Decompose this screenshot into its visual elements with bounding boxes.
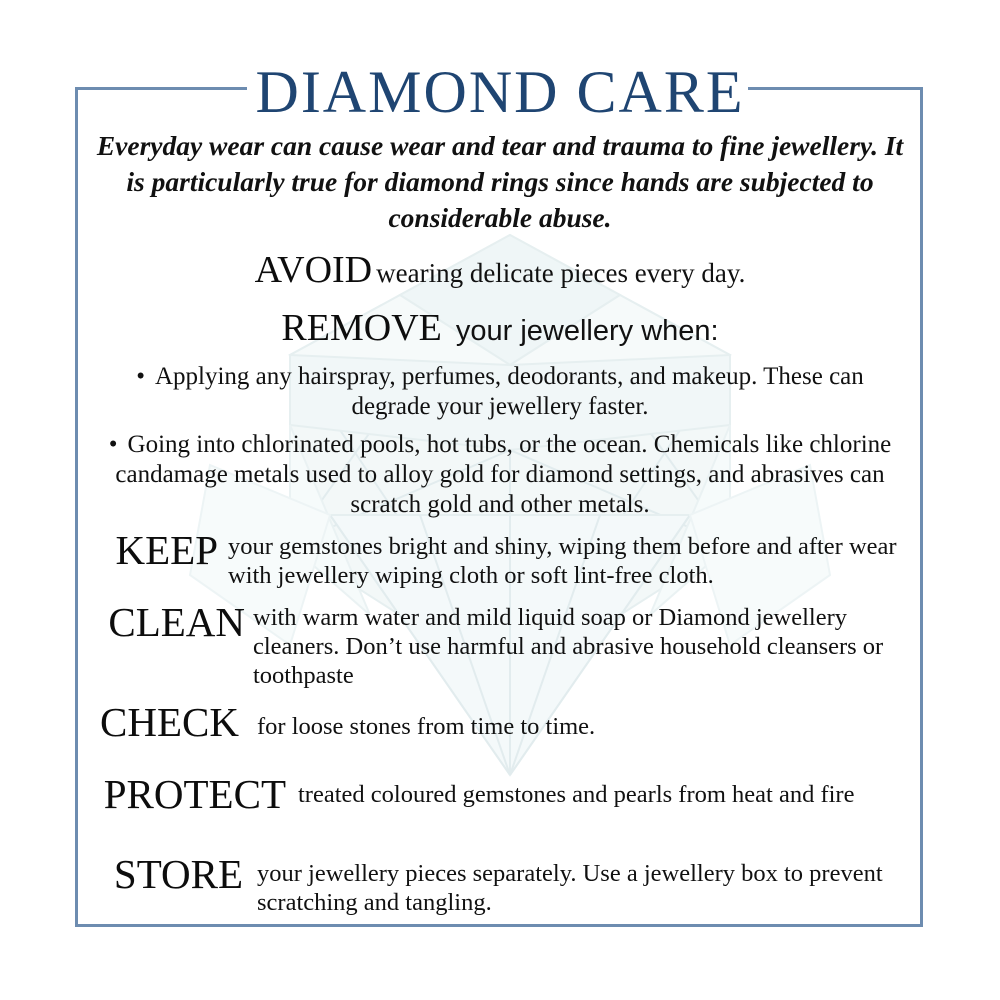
section-text-clean: with warm water and mild liquid soap or …: [253, 603, 930, 690]
list-item: •Applying any hairspray, perfumes, deodo…: [100, 362, 900, 422]
diamond-care-infographic: DIAMOND CARE Everyday wear can cause wea…: [0, 0, 1000, 1000]
remove-bullet-list: •Applying any hairspray, perfumes, deodo…: [100, 362, 900, 528]
section-keep: KEEP your gemstones bright and shiny, wi…: [88, 528, 918, 590]
avoid-text: wearing delicate pieces every day.: [376, 258, 745, 288]
section-keyword-keep: KEEP: [88, 528, 218, 572]
section-text-protect: treated coloured gemstones and pearls fr…: [298, 780, 918, 809]
remove-keyword: REMOVE: [281, 307, 441, 349]
section-text-keep: your gemstones bright and shiny, wiping …: [228, 532, 918, 590]
section-protect: PROTECT treated coloured gemstones and p…: [86, 772, 926, 816]
remove-text: your jewellery when:: [456, 315, 719, 347]
bullet-text: Applying any hairspray, perfumes, deodor…: [155, 363, 864, 420]
avoid-keyword: AVOID: [255, 249, 373, 291]
section-text-check: for loose stones from time to time.: [257, 712, 924, 741]
section-keyword-clean: CLEAN: [80, 600, 245, 644]
section-keyword-check: CHECK: [84, 700, 239, 744]
remove-line: REMOVE your jewellery when:: [0, 306, 1000, 350]
bullet-text: Going into chlorinated pools, hot tubs, …: [115, 431, 891, 518]
section-text-store: your jewellery pieces separately. Use a …: [257, 859, 917, 917]
section-check: CHECK for loose stones from time to time…: [84, 700, 924, 744]
section-store: STORE your jewellery pieces separately. …: [88, 852, 928, 917]
section-keyword-protect: PROTECT: [86, 772, 286, 816]
bullet-marker: •: [109, 431, 118, 458]
avoid-line: AVOID wearing delicate pieces every day.: [0, 248, 1000, 292]
page-title: DIAMOND CARE: [0, 62, 1000, 122]
list-item: •Going into chlorinated pools, hot tubs,…: [100, 430, 900, 520]
bullet-marker: •: [136, 363, 145, 390]
section-clean: CLEAN with warm water and mild liquid so…: [80, 600, 930, 690]
section-keyword-store: STORE: [88, 852, 243, 896]
intro-paragraph: Everyday wear can cause wear and tear an…: [95, 128, 905, 236]
